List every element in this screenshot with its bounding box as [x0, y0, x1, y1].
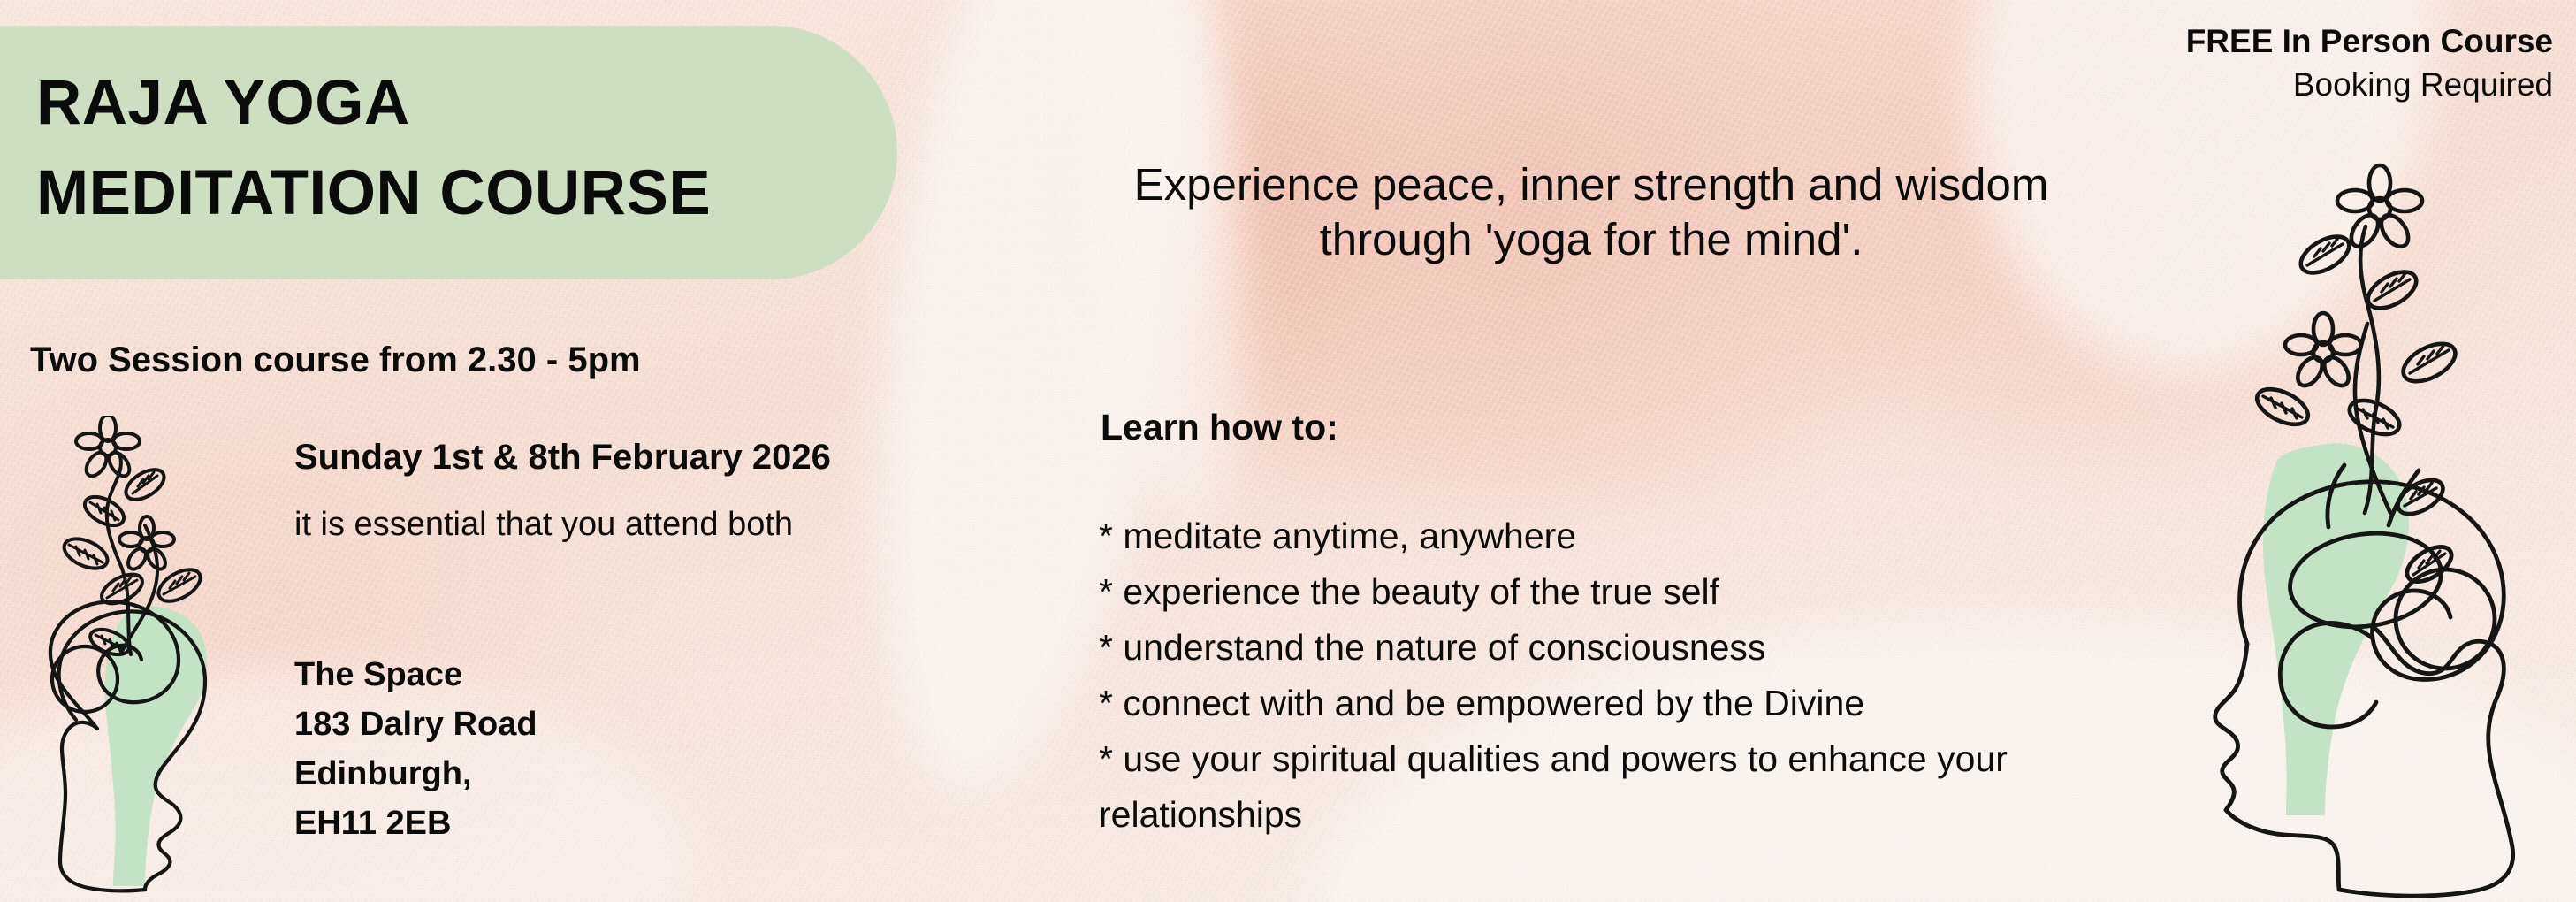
leaf-5 [153, 563, 205, 608]
head-flower-illustration-left [21, 416, 278, 902]
learn-how-to-heading: Learn how to: [1101, 407, 1338, 448]
free-course-label: FREE In Person Course [2186, 19, 2553, 63]
list-item: * use your spiritual qualities and power… [1099, 731, 2177, 843]
venue-street: 183 Dalry Road [294, 699, 537, 749]
head-with-vine-icon [2192, 141, 2576, 902]
page-title: RAJA YOGA MEDITATION COURSE [36, 58, 832, 239]
venue-address: The Space 183 Dalry Road Edinburgh, EH11… [294, 650, 537, 848]
venue-name: The Space [294, 650, 537, 699]
leaf-3 [60, 533, 112, 575]
leaf-1 [121, 463, 169, 505]
poster-canvas: RAJA YOGA MEDITATION COURSE FREE In Pers… [0, 0, 2576, 902]
leaf-6 [2392, 473, 2448, 521]
tagline-line-1: Experience peace, inner strength and wis… [1012, 157, 2170, 212]
list-item: * experience the beauty of the true self [1099, 564, 2177, 620]
tagline: Experience peace, inner strength and wis… [1012, 157, 2170, 267]
course-dates-text: Sunday 1st & 8th February 2026 [294, 438, 831, 478]
head-with-vine-icon [21, 416, 278, 902]
venue-postcode: EH11 2EB [294, 799, 537, 848]
leaf-2 [2362, 264, 2422, 316]
leaf-3 [2397, 336, 2461, 389]
title-line-1: RAJA YOGA [36, 58, 832, 149]
session-time-text: Two Session course from 2.30 - 5pm [30, 340, 641, 380]
booking-required-label: Booking Required [2186, 63, 2553, 106]
list-item: * understand the nature of consciousness [1099, 620, 2177, 676]
list-item: * meditate anytime, anywhere [1099, 508, 2177, 564]
leaf-5 [2344, 394, 2405, 441]
leaf-1 [2295, 229, 2355, 280]
free-course-notice: FREE In Person Course Booking Required [2186, 19, 2553, 106]
leaf-6 [87, 624, 133, 659]
title-line-2: MEDITATION COURSE [36, 149, 832, 239]
tagline-line-2: through 'yoga for the mind'. [1012, 212, 2170, 267]
venue-city: Edinburgh, [294, 749, 537, 799]
face-green-fill [2263, 443, 2409, 815]
list-item: * connect with and be empowered by the D… [1099, 676, 2177, 731]
leaf-2 [80, 491, 129, 531]
leaf-4 [2252, 382, 2313, 432]
head-flower-illustration-right [2192, 141, 2576, 902]
face-green-fill [105, 607, 208, 886]
attendance-note-text: it is essential that you attend both [294, 506, 793, 544]
learn-how-to-list: * meditate anytime, anywhere * experienc… [1099, 508, 2177, 843]
leaf-4 [97, 569, 147, 609]
